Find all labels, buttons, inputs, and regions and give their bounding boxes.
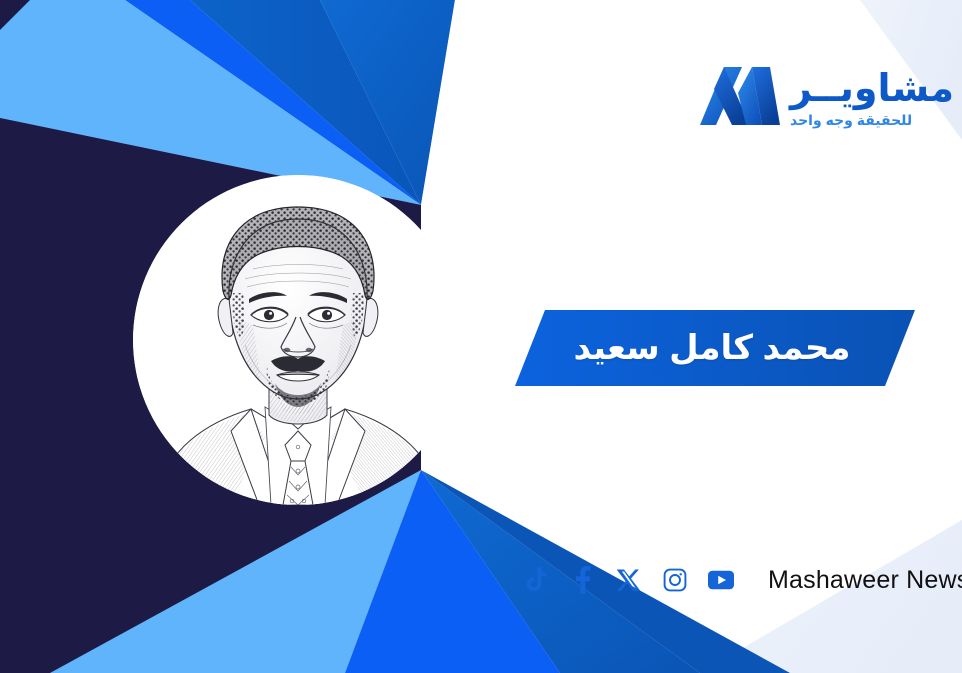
mashaweer-m-mark-icon	[700, 63, 780, 133]
person-name-banner: محمد كامل سعيد	[515, 310, 915, 386]
brand-logo[interactable]: مشاويــر للحقيقة وجه واحد	[700, 52, 910, 144]
person-name: محمد كامل سعيد	[515, 310, 915, 386]
portrait-illustration	[133, 175, 463, 505]
social-links-bar: Mashaweer News	[524, 560, 962, 600]
youtube-icon[interactable]	[708, 565, 734, 595]
news-card: محمد كامل سعيد مشاويــر للحقيقة وجه واحد	[0, 0, 962, 673]
portrait-avatar	[133, 175, 463, 505]
instagram-icon[interactable]	[662, 565, 688, 595]
logo-wordmark: مشاويــر للحقيقة وجه واحد	[790, 70, 954, 127]
tiktok-icon[interactable]	[524, 565, 550, 595]
logo-tagline: للحقيقة وجه واحد	[790, 113, 912, 127]
brand-name-text: Mashaweer News	[768, 566, 962, 595]
x-twitter-icon[interactable]	[616, 565, 642, 595]
facebook-icon[interactable]	[570, 565, 596, 595]
logo-name: مشاويــر	[790, 70, 954, 108]
